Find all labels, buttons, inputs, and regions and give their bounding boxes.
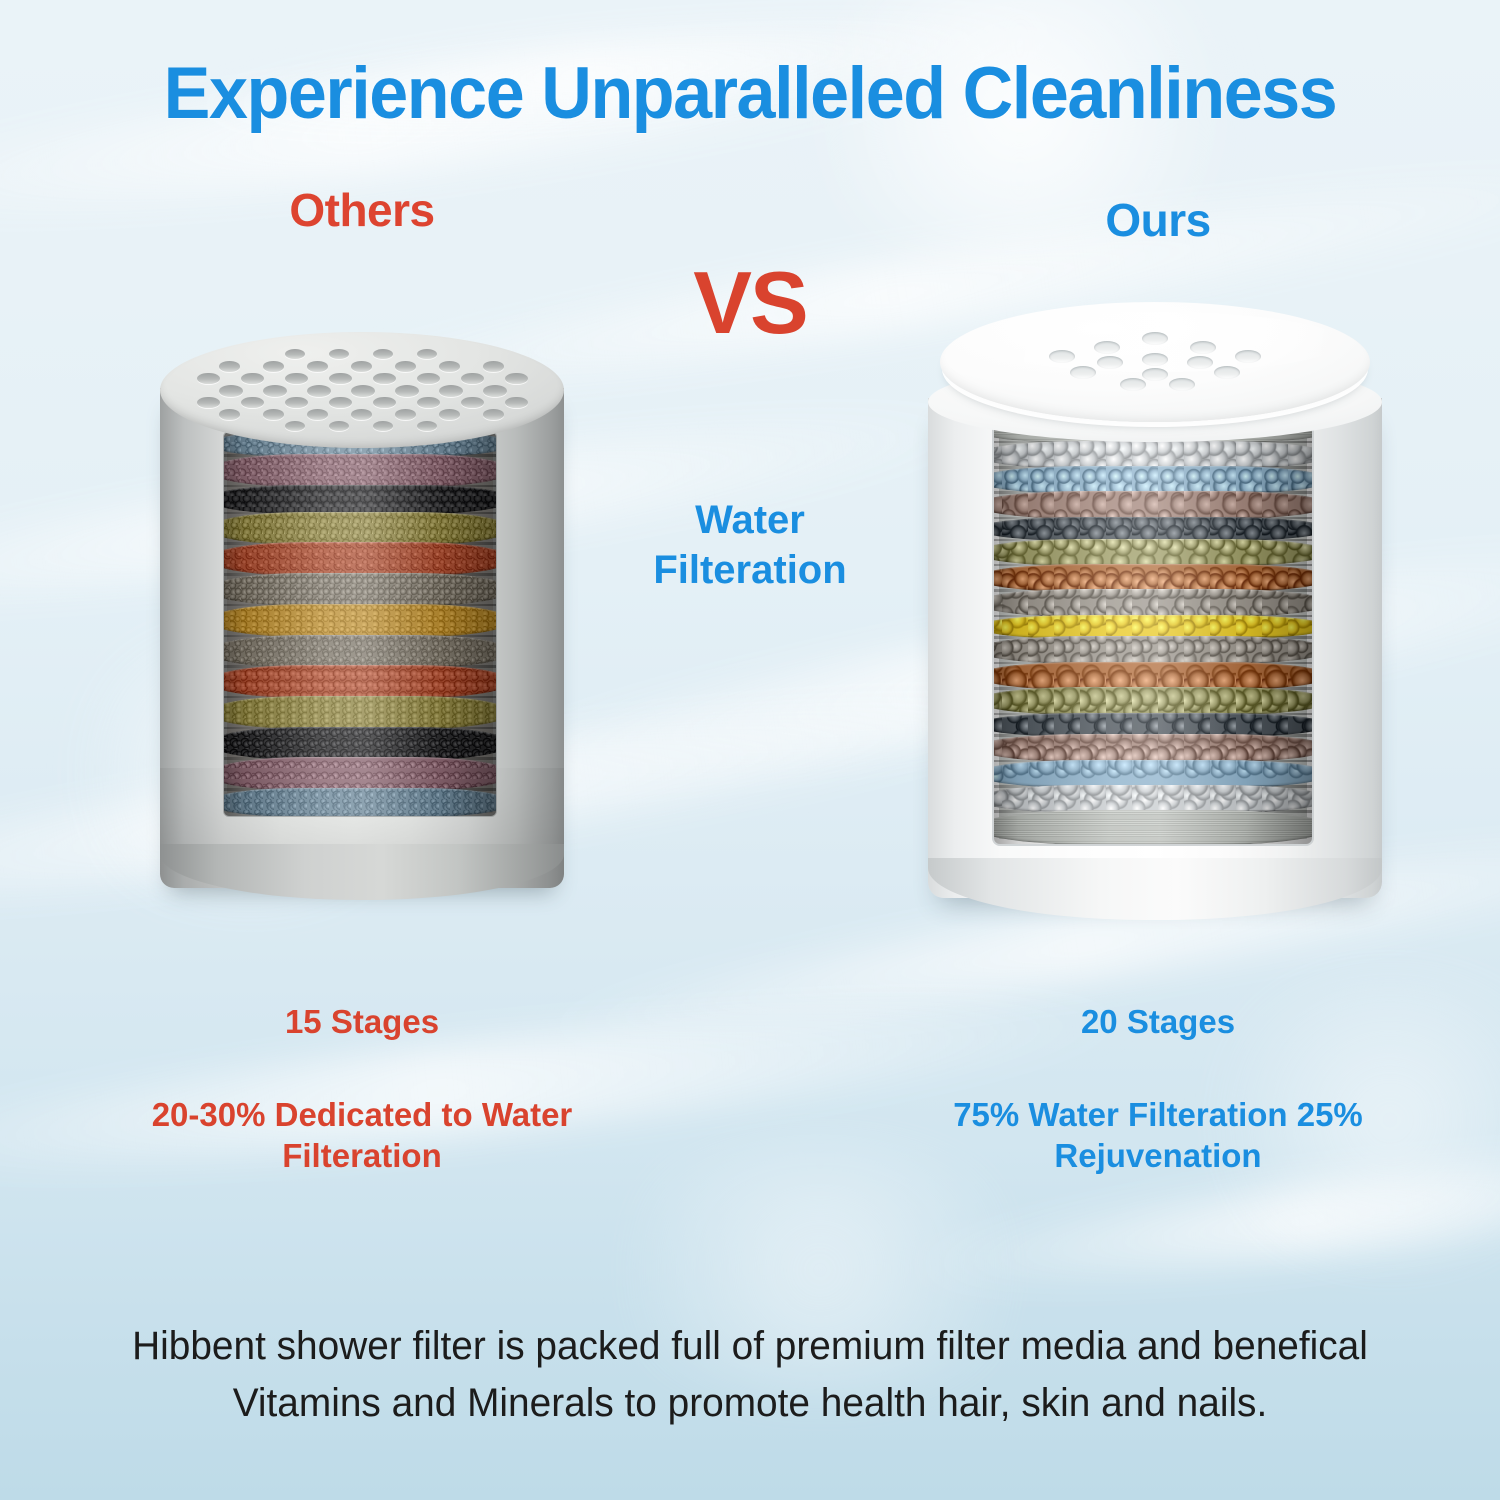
media-layer — [994, 760, 1312, 788]
media-layer — [224, 696, 496, 729]
perforation-hole — [373, 397, 396, 408]
perforation-hole — [1142, 368, 1168, 381]
perforation-hole — [373, 349, 393, 359]
perforation-hole — [307, 385, 331, 397]
media-layer — [224, 542, 496, 575]
perforation-hole — [285, 373, 308, 384]
competitor-filter-cartridge-image — [152, 332, 572, 910]
media-layer — [224, 788, 496, 816]
perforation-hole — [395, 361, 416, 372]
filter-media-layers-left — [224, 432, 496, 816]
perforation-hole — [417, 421, 437, 431]
perforation-hole — [1142, 353, 1168, 366]
perforation-hole — [461, 373, 484, 384]
perforation-hole — [1120, 378, 1146, 391]
media-layer — [994, 491, 1312, 519]
versus-badge: VS — [600, 252, 900, 354]
stat-stages-left: 15 Stages — [100, 1003, 624, 1041]
perforation-holes-left — [160, 332, 564, 448]
media-layer — [224, 485, 496, 514]
perforation-hole — [285, 397, 308, 408]
perforation-hole — [1235, 350, 1261, 363]
perforation-hole — [329, 349, 349, 359]
perforation-hole — [219, 361, 240, 372]
media-layer — [994, 466, 1312, 494]
perforation-hole — [219, 385, 243, 397]
media-layer — [994, 589, 1312, 617]
media-layer — [224, 604, 496, 637]
media-layer — [994, 687, 1312, 715]
cutaway-window-right — [994, 420, 1312, 844]
column-label-others: Others — [0, 183, 724, 237]
perforation-hole — [1187, 356, 1213, 369]
cutaway-window-left — [224, 432, 496, 816]
perforation-hole — [329, 421, 349, 431]
perforation-hole — [263, 361, 284, 372]
perforation-hole — [329, 397, 352, 408]
perforation-hole — [351, 361, 372, 372]
filter-media-layers-right — [994, 420, 1312, 844]
perforation-hole — [1190, 341, 1216, 354]
perforation-hole — [505, 373, 528, 384]
perforation-hole — [351, 409, 372, 420]
media-layer — [224, 573, 496, 606]
media-layer — [994, 713, 1312, 737]
media-layer — [224, 454, 496, 487]
perforation-hole — [483, 385, 507, 397]
perforation-hole — [483, 361, 504, 372]
cartridge-bottom-rim-white — [928, 858, 1382, 920]
perforation-hole — [285, 349, 305, 359]
perforation-hole — [241, 373, 264, 384]
media-layer — [994, 662, 1312, 690]
perforation-hole — [505, 397, 528, 408]
media-layer — [994, 810, 1312, 844]
perforation-hole — [197, 373, 220, 384]
perforation-hole — [1070, 366, 1096, 379]
media-layer — [994, 564, 1312, 592]
perforation-hole — [483, 409, 504, 420]
perforation-hole — [439, 409, 460, 420]
perforation-hole — [351, 385, 375, 397]
footer-description: Hibbent shower filter is packed full of … — [61, 1318, 1438, 1432]
media-layer — [224, 635, 496, 668]
media-layer — [224, 727, 496, 760]
stat-detail-right: 75% Water Filteration 25% Rejuvenation — [880, 1094, 1436, 1177]
media-layer — [994, 441, 1312, 469]
perforation-hole — [1214, 366, 1240, 379]
cartridge-bottom-rim-grey — [160, 844, 564, 900]
media-layer — [994, 615, 1312, 639]
hibbent-filter-cartridge-image — [918, 302, 1392, 940]
perforation-holes-right — [940, 302, 1370, 422]
perforation-hole — [1097, 356, 1123, 369]
media-layer — [994, 734, 1312, 762]
perforation-hole — [263, 409, 284, 420]
perforation-hole — [219, 409, 240, 420]
perforation-hole — [373, 421, 393, 431]
perforation-hole — [439, 361, 460, 372]
media-layer — [994, 539, 1312, 567]
perforation-hole — [1094, 341, 1120, 354]
page-title: Experience Unparalleled Cleanliness — [30, 52, 1470, 135]
media-layer — [224, 512, 496, 545]
perforation-hole — [417, 397, 440, 408]
column-label-ours: Ours — [776, 193, 1500, 247]
media-layer — [224, 757, 496, 790]
perforation-hole — [285, 421, 305, 431]
perforation-hole — [329, 373, 352, 384]
perforation-hole — [1049, 350, 1075, 363]
stat-stages-right: 20 Stages — [900, 1003, 1416, 1041]
infographic-canvas: Experience Unparalleled Cleanliness Othe… — [0, 0, 1500, 1500]
perforation-hole — [395, 409, 416, 420]
perforation-hole — [417, 349, 437, 359]
perforation-hole — [307, 361, 328, 372]
perforation-hole — [1142, 332, 1168, 345]
perforation-hole — [439, 385, 463, 397]
media-layer — [994, 636, 1312, 664]
perforation-hole — [307, 409, 328, 420]
media-layer — [994, 517, 1312, 541]
center-caption-water-filteration: Water Filteration — [595, 495, 905, 595]
perforation-hole — [395, 385, 419, 397]
media-layer — [224, 665, 496, 698]
perforation-hole — [241, 397, 264, 408]
stat-detail-left: 20-30% Dedicated to Water Filteration — [80, 1094, 644, 1177]
perforation-hole — [373, 373, 396, 384]
media-layer — [994, 785, 1312, 813]
perforation-hole — [263, 385, 287, 397]
perforation-hole — [461, 397, 484, 408]
perforation-hole — [417, 373, 440, 384]
perforation-hole — [197, 397, 220, 408]
perforation-hole — [1169, 378, 1195, 391]
